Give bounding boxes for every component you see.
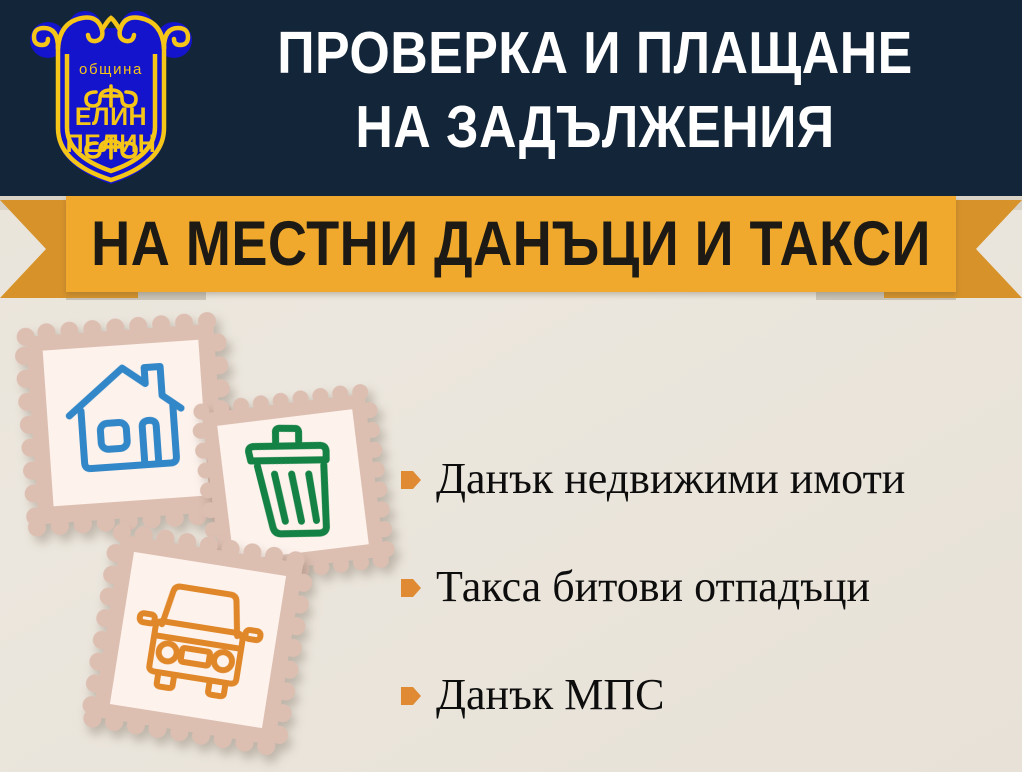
stamp-car xyxy=(77,519,320,762)
poster-root: Данък недвижими имоти Такса битови отпад… xyxy=(0,0,1022,772)
subtitle-ribbon: НА МЕСТНИ ДАНЪЦИ И ТАКСИ xyxy=(0,196,1022,306)
list-item: Такса битови отпадъци xyxy=(400,533,1020,641)
ribbon-band: НА МЕСТНИ ДАНЪЦИ И ТАКСИ xyxy=(66,196,956,292)
list-item-label: Данък недвижими имоти xyxy=(436,457,905,501)
arrow-bullet-icon xyxy=(400,576,422,600)
list-item-label: Такса битови отпадъци xyxy=(436,565,870,609)
page-title: ПРОВЕРКА И ПЛАЩАНЕ НА ЗАДЪЛЖЕНИЯ xyxy=(230,16,960,164)
elin-pelin-coat-of-arms-icon: община ЕЛИН ПЕЛИН xyxy=(30,8,192,190)
svg-text:община: община xyxy=(79,61,143,78)
list-item-label: Данък МПС xyxy=(436,673,664,717)
ribbon-label: НА МЕСТНИ ДАНЪЦИ И ТАКСИ xyxy=(128,196,893,292)
list-item: Данък МПС xyxy=(400,641,1020,749)
stamp-car-graphic xyxy=(77,519,320,762)
arrow-bullet-icon xyxy=(400,684,422,708)
list-item: Данък недвижими имоти xyxy=(400,425,1020,533)
tax-type-list: Данък недвижими имоти Такса битови отпад… xyxy=(400,425,1020,749)
arrow-bullet-icon xyxy=(400,468,422,492)
header-bar: община ЕЛИН ПЕЛИН ПРОВЕРКА xyxy=(0,0,1022,196)
